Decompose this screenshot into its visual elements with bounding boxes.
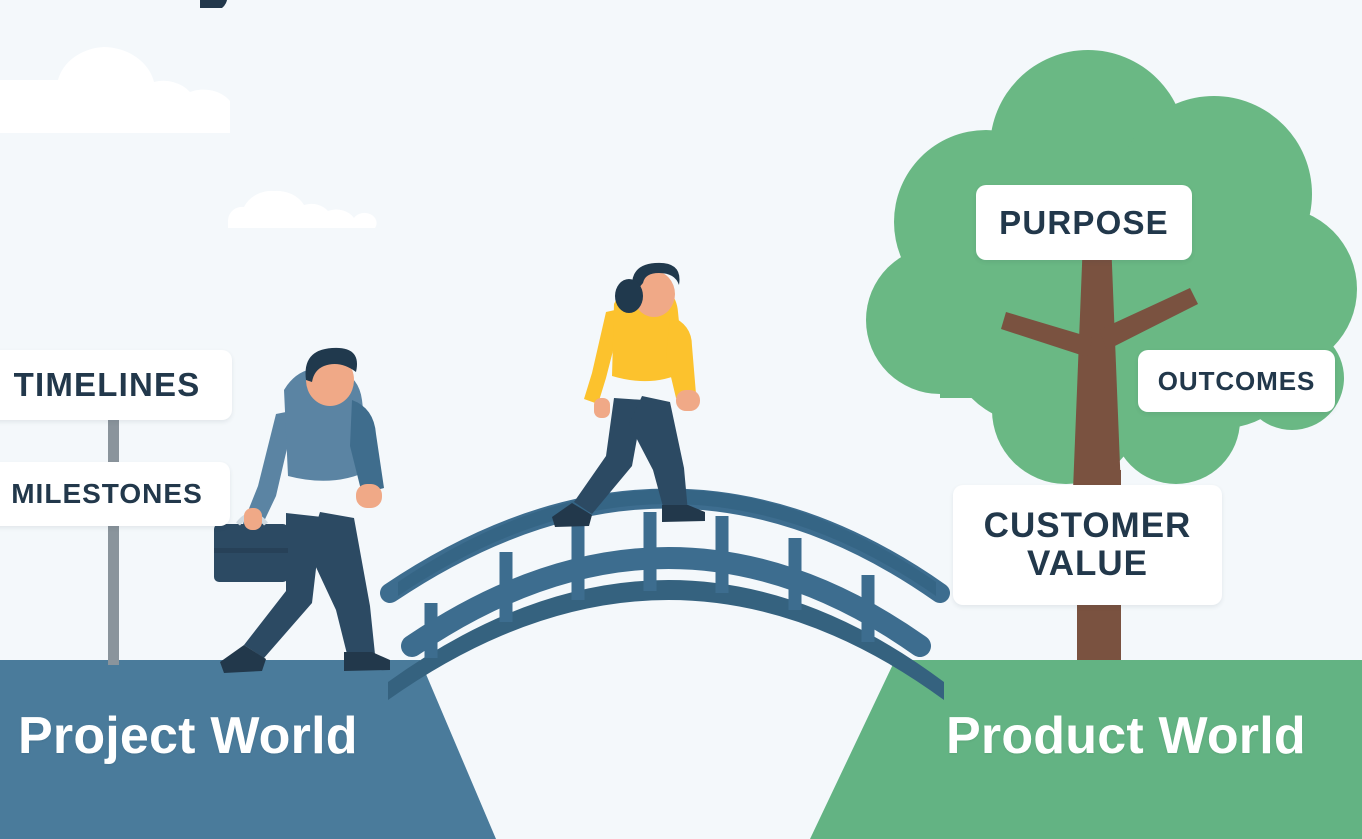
sign-customer-value[interactable]: CUSTOMER VALUE	[953, 485, 1222, 605]
sign-customer-value-line2: VALUE	[1027, 545, 1148, 583]
signpost-pole	[108, 420, 119, 665]
sign-outcomes[interactable]: OUTCOMES	[1138, 350, 1335, 412]
sign-purpose[interactable]: PURPOSE	[976, 185, 1192, 260]
sign-milestones-label: MILESTONES	[11, 479, 203, 509]
sign-timelines-label: TIMELINES	[14, 367, 201, 403]
cropped-title-glyph	[200, 0, 227, 8]
label-project-world: Project World	[18, 706, 358, 766]
sign-outcomes-label: OUTCOMES	[1158, 367, 1315, 395]
illustration-canvas: TIMELINES MILESTONES PURPOSE OUTCOMES CU…	[0, 0, 1362, 839]
sign-milestones[interactable]: MILESTONES	[0, 462, 230, 526]
sign-customer-value-line1: CUSTOMER	[984, 507, 1192, 545]
label-product-world: Product World	[946, 706, 1306, 766]
sign-purpose-label: PURPOSE	[999, 205, 1169, 241]
sign-timelines[interactable]: TIMELINES	[0, 350, 232, 420]
